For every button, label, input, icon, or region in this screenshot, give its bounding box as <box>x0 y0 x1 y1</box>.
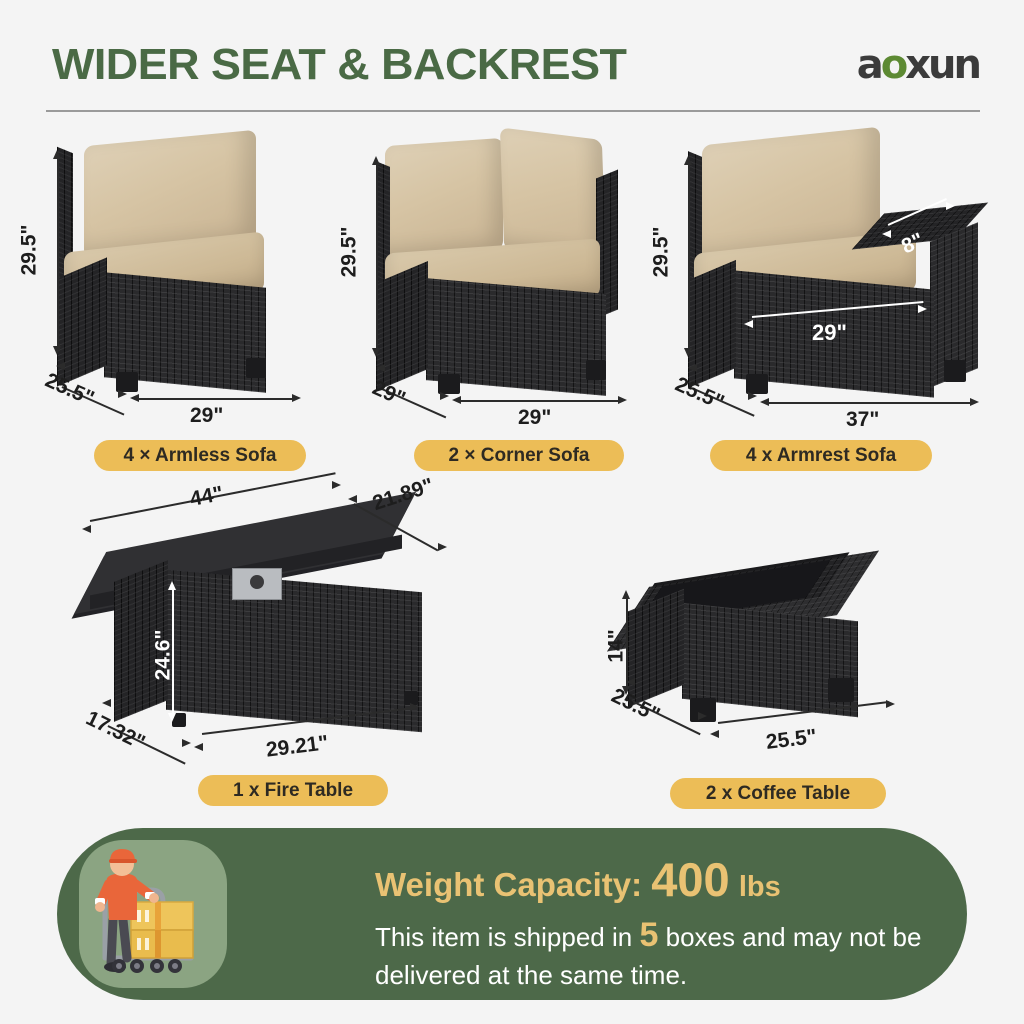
width-arrow-left <box>710 730 719 738</box>
width-dim-line <box>460 400 620 402</box>
badge-coffee-table[interactable]: 2 x Coffee Table <box>670 778 886 809</box>
badge-armless-sofa[interactable]: 4 × Armless Sofa <box>94 440 306 471</box>
width-arrow-right <box>292 394 301 402</box>
dim-height: 29.5" <box>17 225 41 276</box>
weight-capacity-label: Weight Capacity: <box>375 866 642 903</box>
height-arrow-bottom <box>168 713 176 722</box>
cabinet-front <box>166 570 422 732</box>
total-arrow-left <box>760 398 769 406</box>
leg-right <box>246 358 266 378</box>
delivery-man-icon <box>79 840 227 988</box>
height-arrow-top <box>684 156 692 165</box>
leg-right <box>586 360 606 380</box>
dim-height: 14" <box>605 629 629 662</box>
height-arrow-bottom <box>372 348 380 357</box>
depth-arrow-left <box>626 678 635 686</box>
base-depth-arrow-left <box>102 699 111 707</box>
width-arrow-left <box>130 394 139 402</box>
weight-capacity-line: Weight Capacity: 400 lbs <box>375 852 781 907</box>
height-dim-line <box>688 164 690 350</box>
dim-height: 29.5" <box>649 227 673 278</box>
seat-arrow-right <box>918 305 927 313</box>
product-corner-sofa: 29.5" 29" 29" 2 × Corner Sofa <box>330 120 670 480</box>
dim-depth: 29" <box>369 376 409 411</box>
depth-arrow-left <box>56 362 65 370</box>
height-dim-line <box>57 158 59 348</box>
shipping-box-count: 5 <box>639 916 658 954</box>
width-dim-line <box>138 398 294 400</box>
depth-arrow-right <box>748 392 757 400</box>
dim-width: 25.5" <box>765 725 818 755</box>
depth-arrow-left <box>376 364 385 372</box>
top-depth-arrow-left <box>348 495 357 503</box>
height-dim-line <box>376 164 378 350</box>
height-arrow-top <box>53 150 61 159</box>
height-arrow-bottom <box>684 348 692 357</box>
dim-height: 29.5" <box>337 227 361 278</box>
total-width-dim-line <box>768 402 972 404</box>
base-depth-arrow-right <box>182 739 191 747</box>
product-armrest-sofa: 29.5" 8" 29" 25.5" 37" 4 x Armrest Sofa <box>640 120 1024 480</box>
base-width-arrow-left <box>194 743 203 751</box>
weight-capacity-unit: lbs <box>739 871 781 903</box>
height-arrow-top <box>622 590 630 599</box>
depth-arrow-right <box>698 712 707 720</box>
product-fire-table: 44" 21.89" 24.6" 17.32" 29.21" 1 x Fire … <box>60 485 530 815</box>
delivery-illustration <box>79 840 227 988</box>
dim-width: 29" <box>190 404 223 428</box>
badge-fire-table[interactable]: 1 x Fire Table <box>198 775 388 806</box>
header-divider <box>46 110 980 112</box>
leg-right <box>828 678 854 702</box>
width-arrow-left <box>452 396 461 404</box>
burner-knob <box>250 575 264 589</box>
leg-front <box>746 374 768 394</box>
armrest-arrow-right <box>946 202 955 210</box>
depth-arrow-right <box>118 390 127 398</box>
dim-base-width: 29.21" <box>265 731 330 762</box>
badge-corner-sofa[interactable]: 2 × Corner Sofa <box>414 440 624 471</box>
badge-armrest-sofa[interactable]: 4 x Armrest Sofa <box>710 440 932 471</box>
base-width-arrow-right <box>410 703 419 711</box>
dim-width: 29" <box>518 406 551 430</box>
dim-top-width: 44" <box>188 482 225 512</box>
depth-arrow-left <box>688 364 697 372</box>
armrest-arrow-left <box>882 230 891 238</box>
top-depth-arrow-right <box>438 543 447 551</box>
weight-capacity-value: 400 <box>651 853 729 906</box>
product-dimension-infographic: WIDER SEAT & BACKREST aoxun 29.5" 25.5" … <box>0 0 1024 1024</box>
product-coffee-table: 14" 25.5" 25.5" 2 x Coffee Table <box>570 550 990 815</box>
total-arrow-right <box>970 398 979 406</box>
dim-height: 24.6" <box>151 630 175 681</box>
top-width-arrow-right <box>332 481 341 489</box>
logo-part-xun: xun <box>905 42 979 88</box>
leg-front <box>438 374 460 394</box>
top-width-arrow-left <box>82 525 91 533</box>
dim-total-width: 37" <box>846 408 879 432</box>
shipping-note: This item is shipped in 5 boxes and may … <box>375 913 945 992</box>
back-cushion-left <box>385 138 503 258</box>
product-armless-sofa: 29.5" 25.5" 29" 4 × Armless Sofa <box>0 120 340 480</box>
width-arrow-right <box>618 396 627 404</box>
leg-right <box>944 360 966 382</box>
seat-arrow-left <box>744 320 753 328</box>
header: WIDER SEAT & BACKREST aoxun <box>0 0 1024 115</box>
logo-part-a: a <box>857 42 881 88</box>
height-arrow-top <box>372 156 380 165</box>
shipping-note-before: This item is shipped in <box>375 922 632 952</box>
width-arrow-right <box>886 700 895 708</box>
dim-seat-width: 29" <box>812 320 847 346</box>
height-arrow-bottom <box>53 346 61 355</box>
depth-arrow-right <box>440 392 449 400</box>
height-arrow-top <box>168 581 176 590</box>
brand-logo: aoxun <box>857 42 979 88</box>
logo-part-o: o <box>881 42 905 88</box>
leg-front <box>116 372 138 392</box>
page-title: WIDER SEAT & BACKREST <box>52 40 626 90</box>
